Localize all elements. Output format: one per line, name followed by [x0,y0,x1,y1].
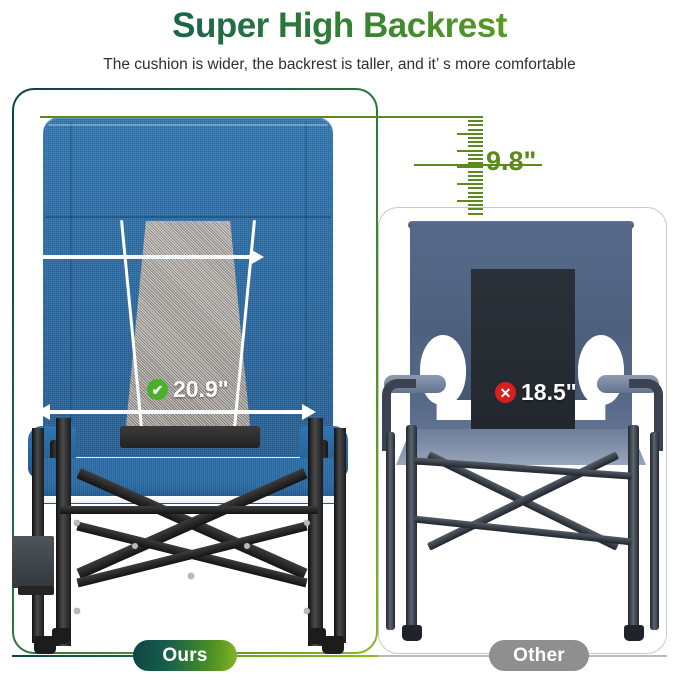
side-table-support [18,586,54,595]
leg-front-right-ours [308,418,323,646]
rivet [74,520,80,526]
rivet [132,543,138,549]
foot-inner-right-ours [308,628,326,644]
ruler-tick [468,145,483,147]
ruler-tick [468,179,483,181]
ruler-tick [468,162,483,164]
page-subtitle: The cushion is wider, the backrest is ta… [0,54,679,76]
ruler-tick [468,171,483,173]
arrow-bar [46,410,306,414]
ruler-tick [468,124,483,126]
ruler-tick [468,154,483,156]
chair-illustration-ours [12,88,378,654]
ruler-tick [468,175,483,177]
other-width-value: 18.5" [521,379,577,406]
width-arrow-ours [36,404,316,420]
armrest-cutout-left [420,335,466,405]
leg-front-right-other [628,425,639,635]
rivet [304,608,310,614]
ruler-tick [468,213,483,215]
ruler-tick [468,196,483,198]
foot-right-other [624,625,644,641]
ruler-tick [468,120,483,122]
ruler-tick [468,208,483,210]
height-difference-value: 9.8" [486,146,536,177]
foot-inner-left-ours [52,628,70,644]
backrest-seam-right [305,122,307,422]
ruler-tick [468,187,483,189]
label-other: Other [489,640,589,671]
backrest-mid-seam [45,216,331,218]
foot-left-other [402,625,422,641]
badge-width-ours: ✔ 20.9" [147,376,229,403]
chair-illustration-other [378,207,667,654]
x-circle-icon: ✕ [495,382,516,403]
ruler-tick [468,129,483,131]
rivet [244,543,250,549]
leg-front-left-ours [56,418,71,646]
leg-rear-right-ours [334,428,346,643]
label-ours: Ours [133,640,237,671]
divider-right-ours [233,655,378,657]
arrow-bar [34,255,254,259]
ruler-tick [468,141,483,143]
infographic-root: Super High Backrest The cushion is wider… [0,0,679,696]
leg-rear-right-other [650,432,659,630]
ruler-tick [468,192,483,194]
badge-width-other: ✕ 18.5" [495,379,577,406]
rivet [304,520,310,526]
divider-left-other [378,655,491,657]
ruler-tick [457,183,483,185]
height-difference-ruler: 9.8" [380,112,610,222]
ruler-tick [457,150,483,152]
divider-right-other [587,655,667,657]
leg-rear-left-other [386,432,395,630]
divider-left-ours [12,655,137,657]
ruler-tick [468,137,483,139]
check-circle-icon: ✔ [147,379,168,400]
ruler-top-guide-line [40,116,460,118]
top-rail-ours [60,506,318,514]
side-table [12,536,54,588]
ruler-tick [468,204,483,206]
armrest-cutout-right [578,335,624,405]
rivet [188,573,194,579]
ruler-tick [468,158,483,160]
lumbar-support-bar [120,426,260,448]
ours-width-value: 20.9" [173,376,229,403]
width-arrow-other [24,249,264,263]
seat-edge-ours [34,496,344,503]
backrest-top-seam [48,124,328,126]
rivet [74,608,80,614]
ruler-tick [457,166,483,168]
arrow-head-right-icon [302,404,316,420]
ruler-tick [457,133,483,135]
page-title: Super High Backrest [0,4,679,48]
backrest-seam-left [70,122,72,422]
arrow-head-right-icon [250,249,264,265]
ruler-tick [457,200,483,202]
ruler-tick [457,116,483,118]
